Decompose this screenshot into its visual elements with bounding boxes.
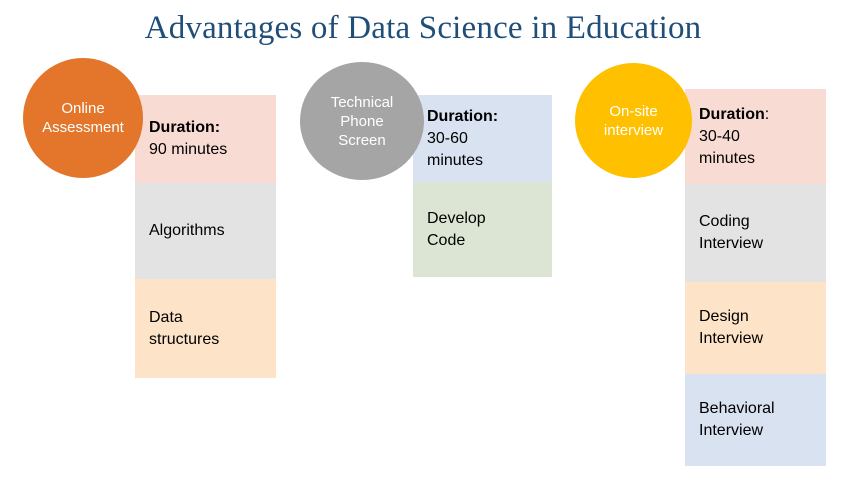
- box-line: minutes: [699, 148, 812, 170]
- box-line: minutes: [427, 150, 538, 172]
- duration-label: Duration: [699, 106, 765, 123]
- box-line: Interview: [699, 328, 812, 350]
- box-online-assessment-duration[interactable]: Duration: 90 minutes: [135, 95, 276, 183]
- box-technical-phone-screen-develop-code[interactable]: Develop Code: [413, 182, 552, 277]
- box-onsite-interview-design-interview[interactable]: Design Interview: [685, 282, 826, 374]
- circle-onsite-interview[interactable]: On-site interview: [575, 63, 692, 178]
- box-stack-online-assessment: Duration: 90 minutes Algorithms Data str…: [135, 95, 276, 378]
- circle-label: On-site interview: [604, 102, 663, 140]
- duration-label: Duration:: [427, 108, 498, 125]
- circle-label-line: Screen: [331, 131, 394, 150]
- box-line: 90 minutes: [149, 139, 262, 161]
- box-onsite-interview-coding-interview[interactable]: Coding Interview: [685, 184, 826, 282]
- box-line: Duration:: [699, 104, 812, 126]
- box-online-assessment-data-structures[interactable]: Data structures: [135, 279, 276, 378]
- box-line: Interview: [699, 420, 812, 442]
- slide-canvas: Advantages of Data Science in Education …: [0, 0, 846, 477]
- circle-label-line: Assessment: [42, 118, 124, 137]
- box-line: Behavioral: [699, 398, 812, 420]
- box-line: Code: [427, 230, 538, 252]
- page-title: Advantages of Data Science in Education: [0, 8, 846, 48]
- box-line: Develop: [427, 208, 538, 230]
- box-line: Duration:: [149, 117, 262, 139]
- box-line: 30-60: [427, 128, 538, 150]
- box-online-assessment-algorithms[interactable]: Algorithms: [135, 183, 276, 279]
- box-line: 30-40: [699, 126, 812, 148]
- box-onsite-interview-duration[interactable]: Duration: 30-40 minutes: [685, 89, 826, 184]
- box-technical-phone-screen-duration[interactable]: Duration: 30-60 minutes: [413, 95, 552, 182]
- circle-label-line: Phone: [331, 112, 394, 131]
- duration-label: Duration:: [149, 119, 220, 136]
- circle-label-line: Technical: [331, 93, 394, 112]
- circle-label-line: On-site: [604, 102, 663, 121]
- box-line: Design: [699, 306, 812, 328]
- box-line: Coding: [699, 211, 812, 233]
- circle-label: Technical Phone Screen: [331, 93, 394, 150]
- box-line: Duration:: [427, 106, 538, 128]
- circle-technical-phone-screen[interactable]: Technical Phone Screen: [300, 62, 424, 180]
- box-stack-technical-phone-screen: Duration: 30-60 minutes Develop Code: [413, 95, 552, 277]
- circle-label: Online Assessment: [42, 99, 124, 137]
- box-line: structures: [149, 329, 262, 351]
- duration-colon: :: [765, 106, 769, 123]
- box-stack-onsite-interview: Duration: 30-40 minutes Coding Interview…: [685, 89, 826, 466]
- box-line: Data: [149, 307, 262, 329]
- box-line: Algorithms: [149, 220, 262, 242]
- circle-online-assessment[interactable]: Online Assessment: [23, 58, 143, 178]
- circle-label-line: interview: [604, 121, 663, 140]
- box-onsite-interview-behavioral-interview[interactable]: Behavioral Interview: [685, 374, 826, 466]
- box-line: Interview: [699, 233, 812, 255]
- circle-label-line: Online: [42, 99, 124, 118]
